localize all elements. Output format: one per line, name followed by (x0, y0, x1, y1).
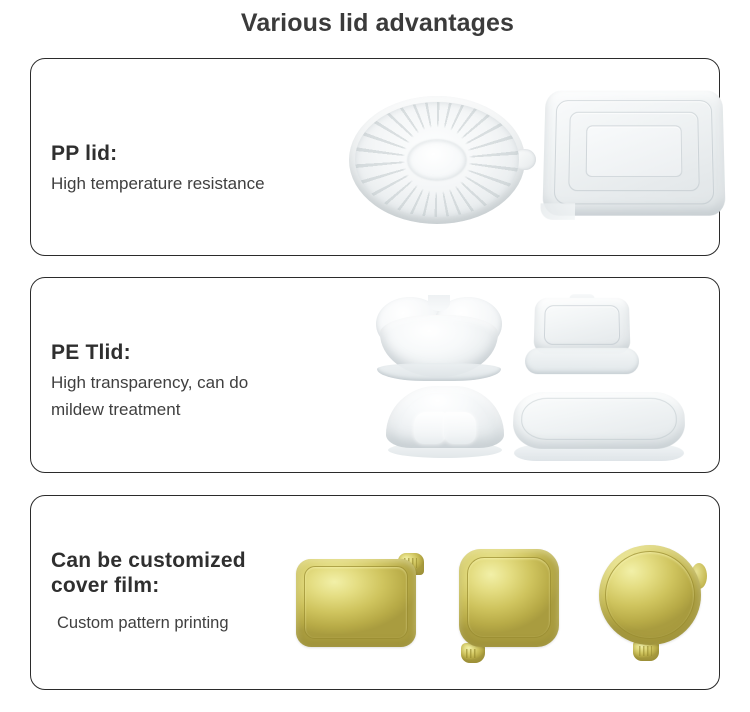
gold-foil-round-lid-image (599, 545, 705, 657)
card-pp-description: High temperature resistance (51, 170, 351, 197)
card-pp-products (331, 59, 719, 255)
square-clear-lid-image (526, 296, 638, 374)
heart-shaped-dome-lid-shape (376, 295, 502, 381)
gold-rect-emboss-ring (304, 566, 408, 639)
card-pe-description: High transparency, can do mildew treatme… (51, 369, 351, 423)
rectangular-pp-lid-image (544, 89, 724, 215)
dome-facet-right (444, 412, 476, 444)
card-cover-film: Can be customized cover film: Custom pat… (30, 495, 720, 690)
lid-ridge-inner (586, 125, 683, 177)
oval-flat-lid-image (513, 391, 685, 461)
round-dome-lid-shape (386, 386, 504, 458)
gold-rect-face (296, 559, 416, 647)
heart-notch (428, 295, 450, 311)
rectangular-pp-lid-shape (542, 91, 725, 216)
card-pe-text-block: PE Tlid: High transparency, can do milde… (51, 340, 351, 423)
lid-corner-fold (540, 203, 575, 219)
round-dome-lid-image (386, 386, 504, 458)
card-pp-heading: PP lid: (51, 141, 351, 166)
card-pp-text-block: PP lid: High temperature resistance (51, 141, 351, 197)
square-lid-top (533, 298, 630, 354)
square-lid-inner-ridge (544, 305, 620, 345)
card-pe-description-line-1: High transparency, can do (51, 369, 351, 396)
lid-center-hub (408, 140, 466, 180)
oval-lid-plate (512, 392, 686, 449)
gold-square-face (459, 549, 559, 647)
infographic-page: Various lid advantages PP lid: High temp… (0, 0, 750, 712)
gold-foil-rectangular-lid-image (296, 553, 420, 651)
card-pp-lid: PP lid: High temperature resistance (30, 58, 720, 256)
card-pe-products (331, 278, 719, 472)
dome-facet-left (414, 412, 446, 444)
round-ribbed-pp-lid-shape (349, 96, 525, 224)
gold-foil-square-lid-shape (459, 549, 563, 657)
square-clear-lid-shape (525, 298, 640, 374)
card-pe-heading: PE Tlid: (51, 340, 351, 365)
gold-round-emboss-ring (605, 551, 695, 639)
page-title: Various lid advantages (0, 9, 750, 38)
round-ribbed-pp-lid-image (349, 96, 525, 224)
gold-foil-square-lid-image (459, 549, 563, 657)
heart-flange (377, 363, 501, 381)
gold-round-face (599, 545, 701, 645)
heart-shaped-dome-lid-image (376, 295, 502, 381)
gold-foil-round-lid-shape (599, 545, 705, 657)
square-lid-flange (525, 348, 640, 374)
oval-flat-lid-shape (512, 392, 687, 461)
card-pe-lid: PE Tlid: High transparency, can do milde… (30, 277, 720, 473)
dome-cap (386, 386, 504, 448)
gold-square-emboss-ring (467, 557, 551, 638)
gold-foil-rectangular-lid-shape (296, 553, 420, 651)
card-pe-description-line-2: mildew treatment (51, 396, 351, 423)
oval-lid-lip (521, 398, 678, 440)
card-cover-film-products (331, 496, 719, 689)
